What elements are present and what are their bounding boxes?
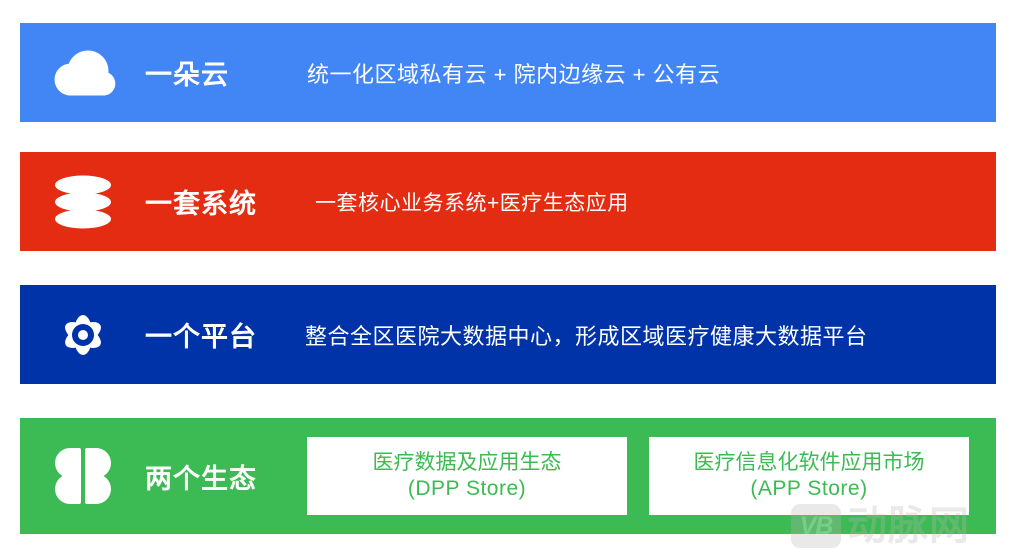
ecosystem-box-app-store-line2: (APP Store) [750, 476, 867, 502]
cloud-icon [20, 45, 145, 101]
band-cloud: 一朵云 统一化区域私有云 + 院内边缘云 + 公有云 [20, 23, 996, 122]
band-platform: 一个平台 整合全区医院大数据中心，形成区域医疗健康大数据平台 [20, 285, 996, 384]
architecture-diagram: 一朵云 统一化区域私有云 + 院内边缘云 + 公有云 一套系统 一套核心业务系统… [20, 0, 996, 554]
band-system: 一套系统 一套核心业务系统+医疗生态应用 [20, 152, 996, 251]
ecosystem-box-app-store-line1: 医疗信息化软件应用市场 [694, 450, 925, 476]
band-title-platform: 一个平台 [145, 315, 285, 354]
ecosystem-box-dpp-store[interactable]: 医疗数据及应用生态 (DPP Store) [307, 437, 627, 515]
band-description-cloud: 统一化区域私有云 + 院内边缘云 + 公有云 [307, 57, 720, 89]
ecosystem-box-app-store[interactable]: 医疗信息化软件应用市场 (APP Store) [649, 437, 969, 515]
band-title-cloud: 一朵云 [145, 53, 285, 92]
ecosystem-box-dpp-store-line1: 医疗数据及应用生态 [373, 450, 562, 476]
band-description-platform: 整合全区医院大数据中心，形成区域医疗健康大数据平台 [305, 319, 868, 351]
ecosystem-box-dpp-store-line2: (DPP Store) [408, 476, 526, 502]
database-stack-icon [20, 173, 145, 231]
ecosystem-box-group: 医疗数据及应用生态 (DPP Store) 医疗信息化软件应用市场 (APP S… [307, 437, 969, 515]
band-ecosystem: 两个生态 医疗数据及应用生态 (DPP Store) 医疗信息化软件应用市场 (… [20, 418, 996, 534]
four-petal-clover-icon [20, 444, 145, 508]
band-title-ecosystem: 两个生态 [145, 457, 285, 496]
band-description-system: 一套核心业务系统+医疗生态应用 [315, 187, 629, 217]
band-title-system: 一套系统 [145, 182, 285, 221]
atom-icon [20, 300, 145, 370]
